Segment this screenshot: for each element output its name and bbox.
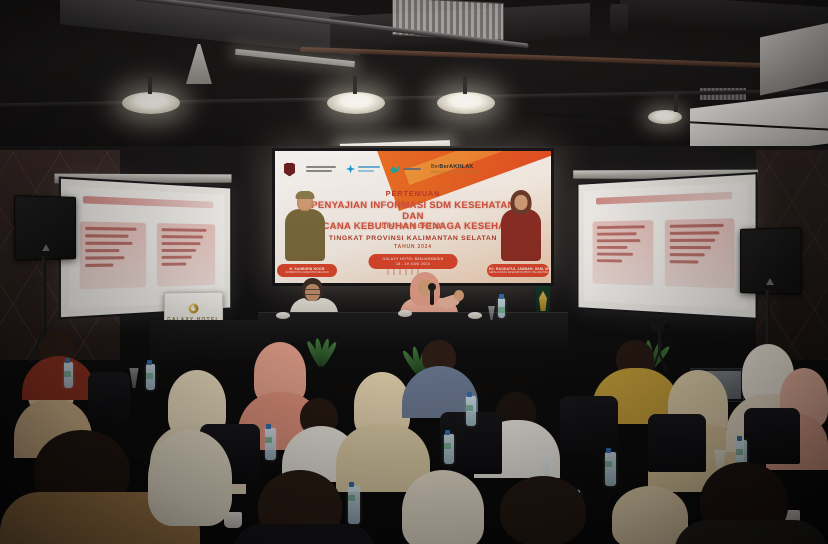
slide-column xyxy=(157,223,215,287)
banner-person-right-label: HJ. RAUDATUL JANNAH, SKM, M.KES KEPALA D… xyxy=(487,264,549,277)
hanging-fixture xyxy=(186,44,212,84)
chair-back xyxy=(648,414,706,472)
cup-and-saucer xyxy=(398,310,412,317)
berakhlak-tagline: BANGGA MELAYANI BANGSA xyxy=(431,170,480,174)
presenter-hand xyxy=(454,290,464,301)
pendant-light xyxy=(648,110,682,124)
ceiling-panel xyxy=(760,23,828,96)
banner-person-right-role: KEPALA DINAS KESEHATAN PROV. KALIMANTAN … xyxy=(489,271,547,274)
attendee-shoulders xyxy=(674,520,828,544)
water-bottle xyxy=(466,396,476,426)
banner-person-right-face xyxy=(515,195,528,210)
water-bottle xyxy=(444,434,454,464)
banner-person-right-body xyxy=(501,209,541,261)
attendee-head xyxy=(500,476,586,544)
banner-venue-name: GALAXY HOTEL BANJARMASIN xyxy=(383,257,444,262)
water-bottle xyxy=(348,486,360,524)
water-bottle xyxy=(498,298,505,318)
water-bottle xyxy=(265,428,276,460)
water-bottle xyxy=(64,362,73,388)
ceiling xyxy=(0,0,828,150)
pa-speaker-left xyxy=(14,195,76,261)
banner-title-line1: PENYAJIAN INFORMASI SDM KESEHATAN DAN xyxy=(301,201,525,222)
main-projection-banner: BerBerAKHLAK BANGGA MELAYANI BANGSA PERT… xyxy=(272,148,554,286)
attendee-shoulders xyxy=(232,524,376,544)
slide-column xyxy=(79,221,145,289)
chair-back xyxy=(560,396,618,454)
slide-column xyxy=(665,218,735,289)
eyeglasses-icon xyxy=(305,289,321,295)
banner-person-left-cap xyxy=(296,191,315,199)
germas-logo-icon xyxy=(390,165,421,174)
banner-person-left-body xyxy=(285,209,325,261)
attendee-hijab xyxy=(612,486,688,544)
attendee-hijab xyxy=(402,470,484,544)
banner-person-left-label: H. SAHBIRIN NOOR GUBERNUR KALIMANTAN SEL… xyxy=(277,264,337,277)
dinkes-wordmark xyxy=(306,166,336,172)
camera-lens-icon xyxy=(664,324,670,329)
banner-venue-date: 18 - 19 JUNI 2024 xyxy=(383,262,444,267)
water-bottle xyxy=(605,452,616,486)
cup-and-saucer xyxy=(276,312,290,319)
banner-person-left: H. SAHBIRIN NOOR GUBERNUR KALIMANTAN SEL… xyxy=(279,191,331,277)
slide-title-bar xyxy=(83,196,214,208)
decorative-plant xyxy=(300,330,340,366)
galaxy-spiral-logo-icon xyxy=(186,301,201,316)
attendee-hijab xyxy=(148,430,232,526)
banner-logo-row: BerBerAKHLAK BANGGA MELAYANI BANGSA xyxy=(283,161,543,177)
conference-photo: BerBerAKHLAK BANGGA MELAYANI BANGSA PERT… xyxy=(0,0,828,544)
pendant-light xyxy=(437,92,495,114)
banner-venue-pill: GALAXY HOTEL BANJARMASIN 18 - 19 JUNI 20… xyxy=(369,254,458,269)
berakhlak-logo-icon: BerBerAKHLAK BANGGA MELAYANI BANGSA xyxy=(431,164,480,174)
provincial-health-office-crest-icon xyxy=(283,162,296,177)
pa-speaker-right xyxy=(740,227,802,295)
pendant-light xyxy=(122,92,180,114)
ceiling-pipe xyxy=(300,47,820,70)
ceiling-speaker xyxy=(610,4,628,38)
microphone-icon xyxy=(430,288,434,305)
water-bottle xyxy=(146,364,155,390)
chair-back xyxy=(88,372,130,422)
banner-person-left-role: GUBERNUR KALIMANTAN SELATAN xyxy=(279,271,335,274)
banner-person-right: HJ. RAUDATUL JANNAH, SKM, M.KES KEPALA D… xyxy=(495,191,547,277)
slide-title-bar xyxy=(596,192,733,205)
ceiling-panel xyxy=(690,91,828,150)
chair-back xyxy=(744,408,800,464)
right-projection-screen xyxy=(577,172,758,320)
slide-column xyxy=(593,220,654,286)
cup-and-saucer xyxy=(468,312,482,319)
ceiling-wire xyxy=(380,123,640,134)
pendant-light xyxy=(327,92,385,114)
kemenkes-logo-icon xyxy=(346,165,380,174)
side-table xyxy=(150,320,270,362)
